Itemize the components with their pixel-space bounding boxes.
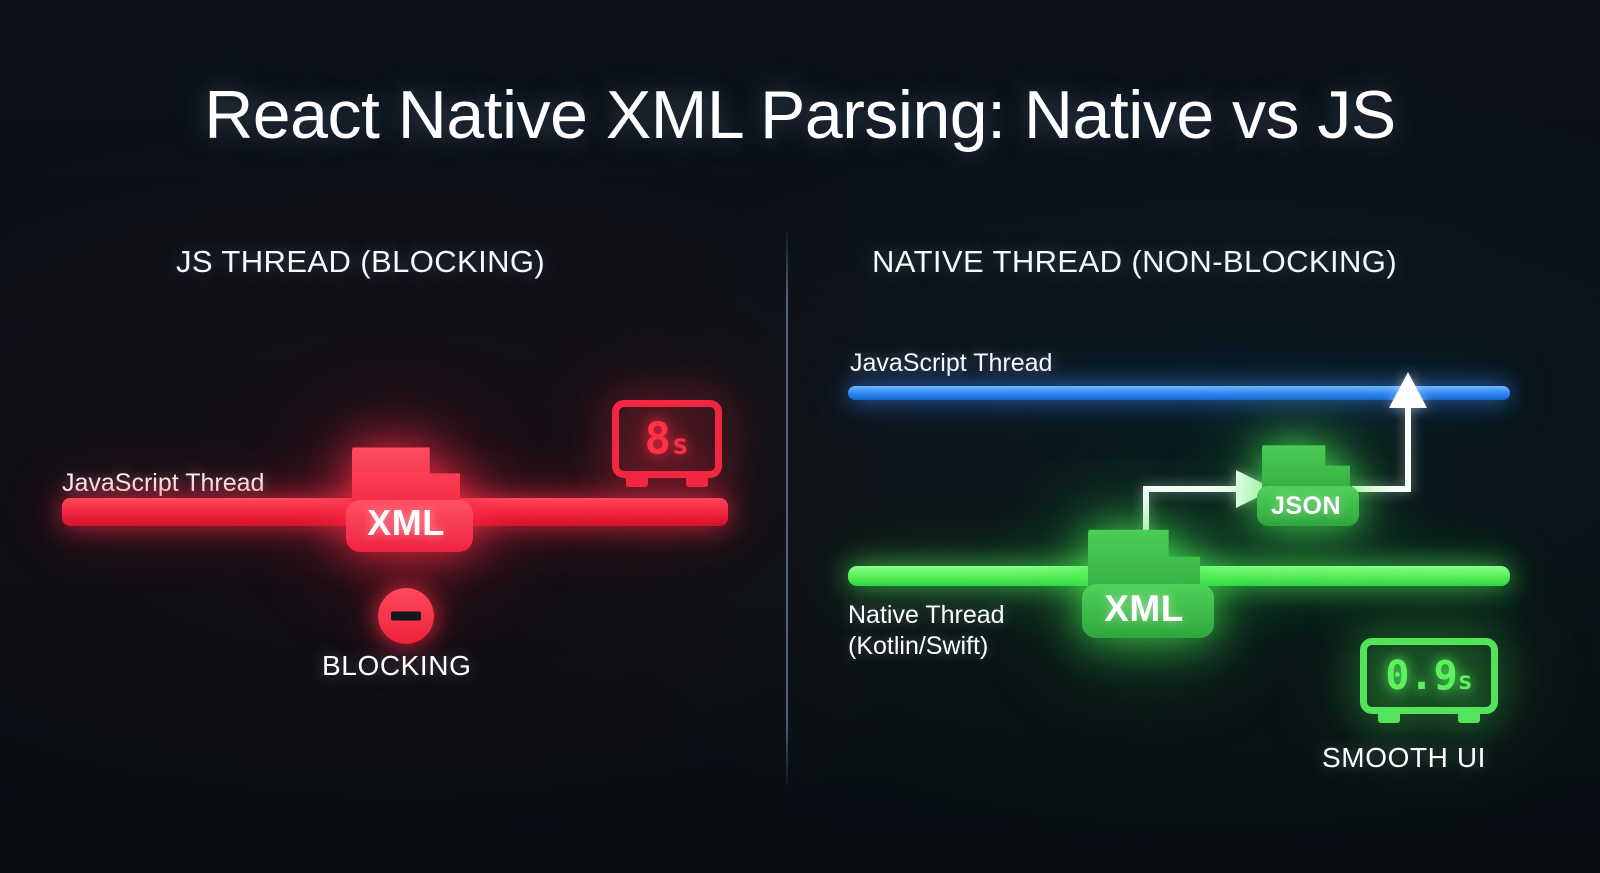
timer-foot-left [1378, 713, 1400, 723]
panel-divider [786, 232, 788, 785]
timer-value: 0.9 [1385, 653, 1457, 699]
json-file-icon: JSON [1262, 438, 1350, 530]
timer-feet [612, 477, 722, 487]
blocking-status-label: BLOCKING [322, 650, 472, 682]
diagram-canvas: React Native XML Parsing: Native vs JS J… [0, 0, 1600, 873]
xml-file-icon-red: XML [352, 438, 460, 556]
timer-foot-left [626, 477, 648, 487]
timer-feet [1360, 713, 1498, 723]
timer-unit: s [1458, 666, 1473, 695]
json-file-icon-label: JSON [1262, 492, 1350, 521]
right-js-thread-label: JavaScript Thread [850, 348, 1052, 379]
native-thread-label-line2: (Kotlin/Swift) [848, 631, 1005, 662]
xml-file-icon-label: XML [1088, 588, 1200, 630]
native-thread-label: Native Thread (Kotlin/Swift) [848, 600, 1005, 661]
minus-bar-shape [391, 612, 421, 621]
minus-circle-icon [378, 588, 434, 644]
right-js-thread-bar [848, 386, 1510, 400]
xml-file-icon-green: XML [1088, 520, 1200, 642]
timer-unit: s [672, 430, 689, 461]
left-panel-heading: JS THREAD (BLOCKING) [176, 244, 545, 280]
xml-file-icon-label: XML [352, 502, 460, 544]
arrow-path-json-to-js [1352, 406, 1408, 489]
left-duration-timer: 8s [612, 400, 722, 478]
left-js-thread-label: JavaScript Thread [62, 468, 264, 499]
right-panel-heading: NATIVE THREAD (NON-BLOCKING) [872, 244, 1397, 280]
timer-value: 8 [645, 414, 673, 465]
timer-foot-right [1458, 713, 1480, 723]
timer-foot-right [686, 477, 708, 487]
native-thread-label-line1: Native Thread [848, 600, 1005, 631]
page-title: React Native XML Parsing: Native vs JS [0, 76, 1600, 154]
timer-readout: 0.9s [1360, 653, 1498, 699]
smooth-ui-status-label: SMOOTH UI [1322, 742, 1486, 774]
timer-readout: 8s [612, 414, 722, 465]
right-duration-timer: 0.9s [1360, 638, 1498, 714]
